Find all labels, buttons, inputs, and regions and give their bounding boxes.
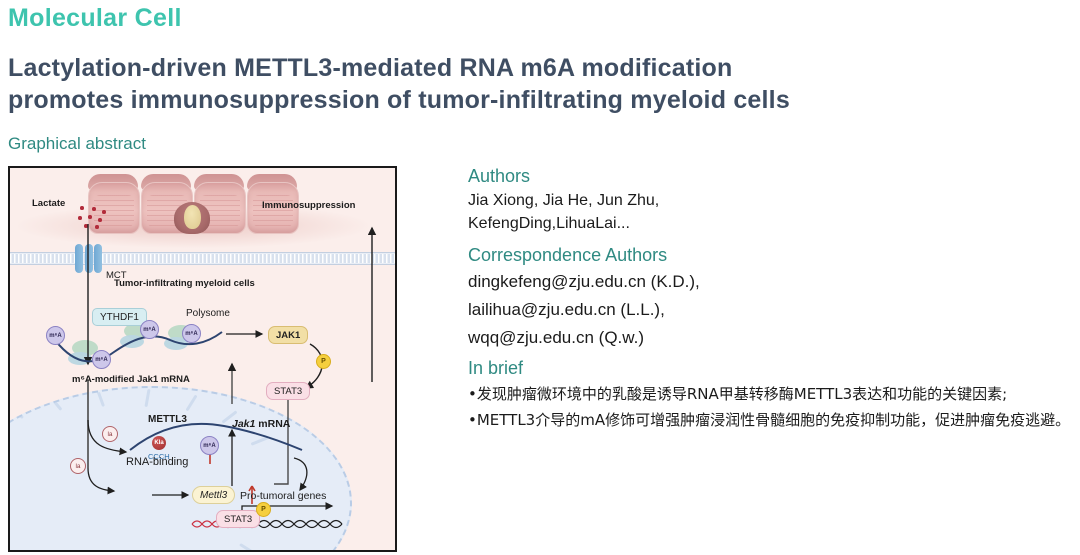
correspondence-email-3[interactable]: wqq@zju.edu.cn (Q.w.) (468, 324, 1072, 352)
correspondence-email-1[interactable]: dingkefeng@zju.edu.cn (K.D.), (468, 268, 1072, 296)
jak1-mrna-gene: Jak1 (232, 418, 255, 430)
figure-label-mettl3: METTL3 (148, 414, 187, 425)
in-brief-heading: In brief (468, 358, 1072, 379)
figure-label-jak1-mrna: Jak1 mRNA (232, 418, 290, 430)
mrna-caption-prefix: m⁶A-modified (72, 374, 134, 385)
m6a-mark-icon: m⁶A (200, 436, 219, 455)
m6a-mark-icon: m⁶A (140, 320, 159, 339)
figure-label-rna-binding: RNA-binding (126, 456, 188, 468)
graphical-abstract-figure: Lactate MCT Immunosuppression Tumor-infi… (8, 166, 397, 552)
page-title: Lactylation-driven METTL3-mediated RNA m… (8, 52, 1068, 116)
graphical-abstract-label: Graphical abstract (8, 134, 146, 154)
lactate-mark-icon: la (102, 426, 118, 442)
article-metadata-panel: Authors Jia Xiong, Jia He, Jun Zhu, Kefe… (468, 166, 1072, 433)
paper-title-line-2: promotes immunosuppression of tumor-infi… (8, 84, 1068, 116)
jak1-mrna-suffix: mRNA (258, 418, 290, 430)
m6a-mark-icon: m⁶A (46, 326, 65, 345)
figure-label-stat3: STAT3 (266, 382, 310, 400)
phosphate-icon: P (316, 354, 331, 369)
authors-line-1: Jia Xiong, Jia He, Jun Zhu, (468, 189, 1072, 212)
correspondence-email-2[interactable]: lailihua@zju.edu.cn (L.L.), (468, 296, 1072, 324)
mrna-caption-suffix: mRNA (161, 374, 190, 385)
figure-caption-mrna: m⁶A-modified Jak1 mRNA (72, 374, 190, 385)
kla-mark-icon: Kla (152, 436, 166, 450)
paper-title-line-1: Lactylation-driven METTL3-mediated RNA m… (8, 52, 1068, 84)
correspondence-heading: Correspondence Authors (468, 245, 1072, 266)
figure-label-pro-tumoral: Pro-tumoral genes (240, 490, 326, 502)
in-brief-bullet-2: •METTL3介导的mA修饰可增强肿瘤浸润性骨髓细胞的免疫抑制功能，促进肿瘤免疫… (468, 407, 1072, 433)
figure-label-polysome: Polysome (186, 308, 230, 319)
phosphate-icon: P (256, 502, 271, 517)
authors-heading: Authors (468, 166, 1072, 187)
figure-label-jak1: JAK1 (268, 326, 308, 344)
m6a-mark-icon: m⁶A (182, 324, 201, 343)
in-brief-bullet-1: •发现肿瘤微环境中的乳酸是诱导RNA甲基转移酶METTL3表达和功能的关键因素; (468, 381, 1072, 407)
figure-label-stat3-nuclear: STAT3 (216, 510, 260, 528)
mrna-caption-gene: Jak1 (137, 374, 158, 385)
figure-label-ythdf1: YTHDF1 (92, 308, 147, 326)
m6a-mark-icon: m⁶A (92, 350, 111, 369)
figure-label-myeloid-cells: Tumor-infiltrating myeloid cells (114, 278, 255, 289)
figure-label-immunosuppression: Immunosuppression (262, 200, 355, 211)
journal-title: Molecular Cell (8, 4, 182, 33)
figure-label-lactate: Lactate (32, 198, 65, 209)
authors-line-2: KefengDing,LihuaLai... (468, 212, 1072, 235)
figure-label-mettl3-gene: Mettl3 (192, 486, 235, 504)
lactate-mark-icon: la (70, 458, 86, 474)
